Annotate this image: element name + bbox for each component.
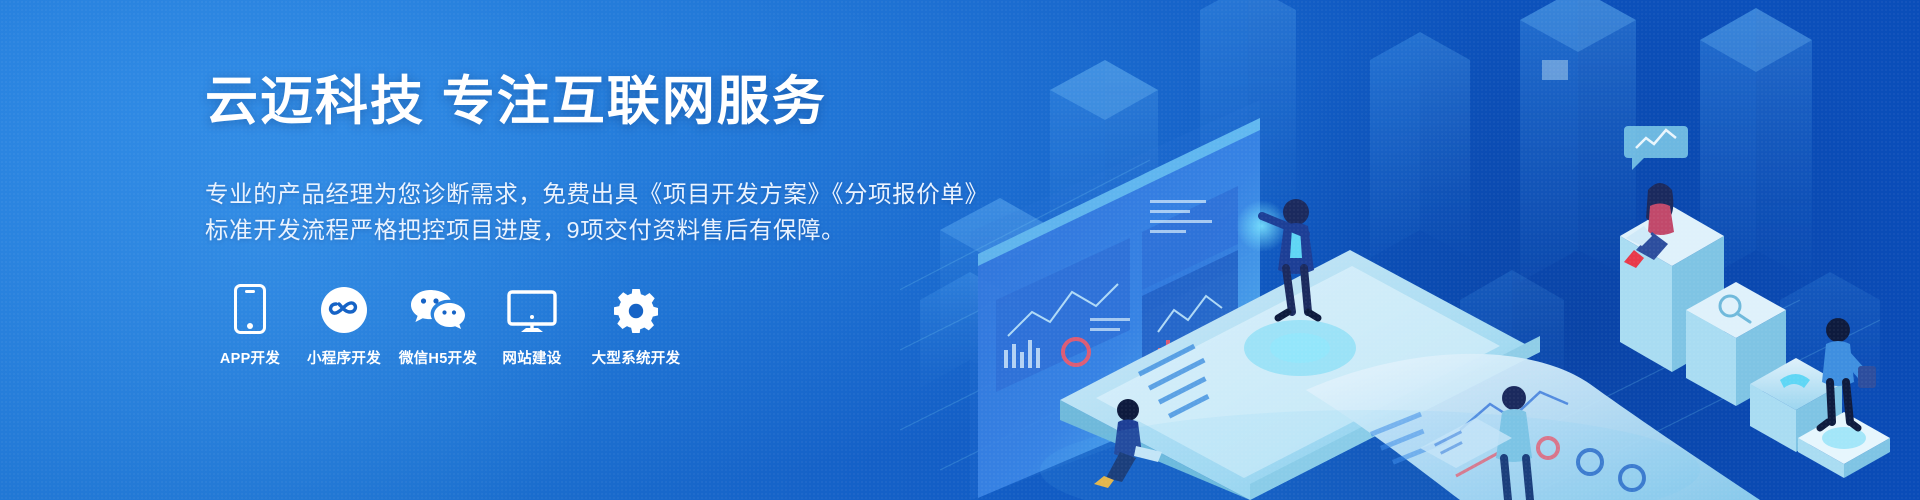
service-item-wechat[interactable]: 微信H5开发 [394,282,482,368]
service-item-mini-program[interactable]: 小程序开发 [300,282,388,368]
banner-content: 云迈科技 专注互联网服务 专业的产品经理为您诊断需求，免费出具《项目开发方案》《… [205,0,925,500]
mini-program-icon [320,282,368,334]
service-label-website: 网站建设 [502,347,561,368]
mobile-phone-icon [234,282,266,334]
banner-subtitle-line-2: 标准开发流程严格把控项目进度，9项交付资料售后有保障。 [205,212,845,248]
service-list: APP开发 小程序开发 [206,282,696,368]
wechat-icon [410,282,466,334]
monitor-icon [507,282,557,334]
banner-subtitle-line-1: 专业的产品经理为您诊断需求，免费出具《项目开发方案》《分项报价单》 [205,176,989,212]
service-item-app[interactable]: APP开发 [206,282,294,368]
isometric-illustration [900,0,1920,500]
service-label-wechat: 微信H5开发 [399,347,477,368]
service-item-large-system[interactable]: 大型系统开发 [582,282,690,368]
service-item-website[interactable]: 网站建设 [488,282,576,368]
service-label-app: APP开发 [220,347,280,368]
service-label-mini-program: 小程序开发 [307,347,381,368]
banner-title: 云迈科技 专注互联网服务 [205,72,827,131]
service-label-large-system: 大型系统开发 [592,347,681,368]
promo-banner: 云迈科技 专注互联网服务 专业的产品经理为您诊断需求，免费出具《项目开发方案》《… [0,0,1920,500]
gear-icon [613,282,659,334]
